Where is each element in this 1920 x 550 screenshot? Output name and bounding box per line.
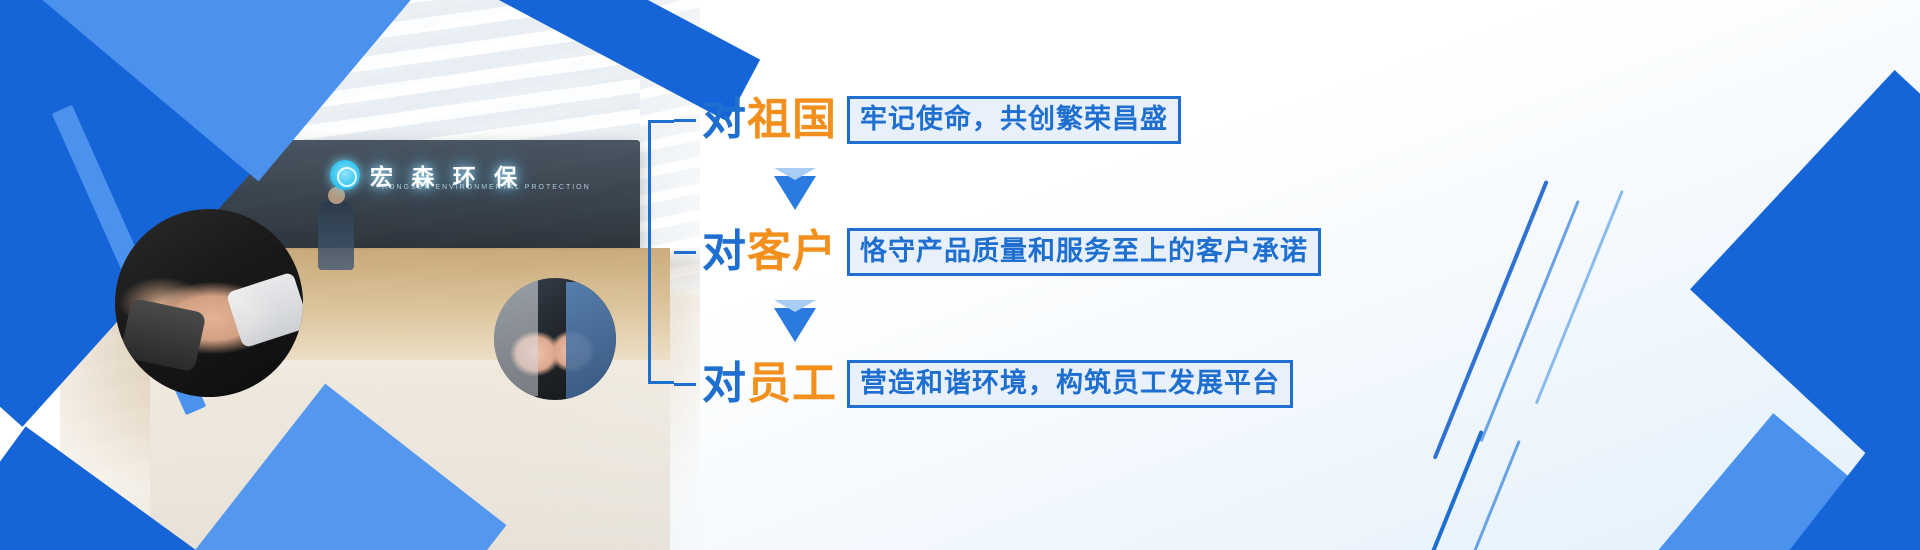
connector-stub [674, 383, 696, 386]
pledge-row-country: 对祖国 牢记使命，共创繁荣昌盛 [674, 92, 1181, 148]
down-triangle-icon [774, 176, 816, 210]
company-pledge-banner: 宏 森 环 保 HONGSEN ENVIRONMENTAL PROTECTION… [0, 0, 1920, 550]
receptionist-figure [318, 200, 354, 270]
pledge-description-country: 牢记使命，共创繁荣昌盛 [847, 96, 1181, 144]
pledge-description-customer: 恪守产品质量和服务至上的客户承诺 [847, 228, 1321, 276]
applause-photo [494, 278, 616, 400]
down-triangle-icon [774, 308, 816, 342]
pledge-prefix: 对 [702, 98, 747, 142]
connector-stub [674, 119, 696, 122]
decor-line-5 [1469, 440, 1520, 550]
pledge-list: 对祖国 牢记使命，共创繁荣昌盛 对客户 恪守产品质量和服务至上的客户承诺 对员工… [648, 80, 1828, 400]
pledge-row-customer: 对客户 恪守产品质量和服务至上的客户承诺 [674, 224, 1321, 280]
bracket-connector [648, 120, 674, 384]
pledge-prefix: 对 [702, 362, 747, 406]
pledge-prefix: 对 [702, 230, 747, 274]
pledge-label-employee: 对员工 [702, 362, 837, 406]
pledge-subject: 祖国 [747, 98, 837, 142]
pledge-label-customer: 对客户 [702, 230, 837, 274]
globe-leaf-icon [330, 160, 360, 190]
pledge-description-employee: 营造和谐环境，构筑员工发展平台 [847, 360, 1293, 408]
decor-line-4 [1424, 430, 1484, 550]
company-sign-subtext: HONGSEN ENVIRONMENTAL PROTECTION [382, 184, 591, 191]
handshake-photo [115, 209, 303, 397]
connector-stub [674, 251, 696, 254]
pledge-subject: 员工 [747, 362, 837, 406]
pledge-subject: 客户 [747, 230, 837, 274]
pledge-row-employee: 对员工 营造和谐环境，构筑员工发展平台 [674, 356, 1293, 412]
pledge-label-country: 对祖国 [702, 98, 837, 142]
company-sign: 宏 森 环 保 HONGSEN ENVIRONMENTAL PROTECTION [330, 148, 580, 202]
